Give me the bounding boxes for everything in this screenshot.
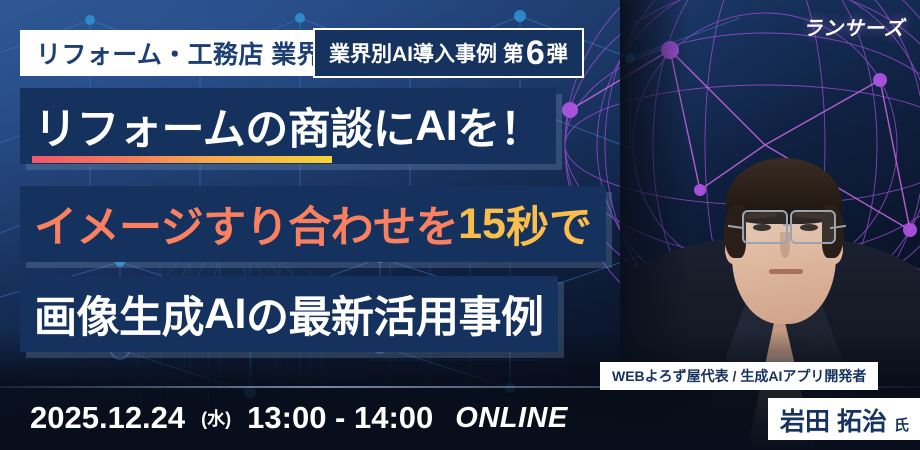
series-prefix-label: 業界別AI導入事例 第 — [329, 38, 524, 68]
industry-tag: リフォーム・工務店 業界 — [20, 30, 338, 76]
headline3-ai-label: AI — [204, 290, 246, 339]
headline-line-1: リフォームの商談に AI を！ — [20, 88, 556, 164]
speaker-name-tag: 岩田 拓治 氏 — [768, 398, 920, 440]
speaker-title: WEBよろず屋代表 / 生成AIアプリ開発者 — [600, 362, 878, 390]
event-time: 13:00 - 14:00 — [247, 400, 433, 436]
series-number-label: 6 — [526, 36, 545, 70]
webinar-banner: ランサーズ リフォーム・工務店 業界 業界別AI導入事例 第 6 弾 リフォーム… — [0, 0, 920, 450]
headline1-text-a: リフォームの商談に — [34, 95, 415, 157]
headline1-text-b: を！ — [457, 95, 542, 157]
event-date: 2025.12.24 — [30, 400, 185, 436]
headline2-unit: 秒で — [506, 193, 592, 255]
headline-line-2: イメージすり合わせを 15 秒で — [20, 186, 606, 262]
event-day-of-week: (水) — [201, 405, 231, 431]
headline1-ai-label: AI — [415, 102, 457, 151]
headline3-text-b: の最新活用事例 — [246, 283, 544, 345]
headline3-text-a: 画像生成 — [34, 283, 204, 345]
lancers-logo[interactable]: ランサーズ — [803, 12, 905, 41]
speaker-name: 岩田 拓治 — [780, 402, 887, 438]
event-datetime: 2025.12.24 (水) 13:00 - 14:00 ONLINE — [30, 398, 568, 438]
headline-line-3: 画像生成 AI の最新活用事例 — [20, 276, 558, 352]
event-format: ONLINE — [455, 402, 568, 435]
headline2-number: 15 — [458, 200, 506, 249]
headline1-underline-accent — [32, 156, 332, 163]
series-suffix-label: 弾 — [547, 38, 568, 68]
headline2-text: イメージすり合わせを — [34, 193, 458, 255]
series-badge: 業界別AI導入事例 第 6 弾 — [313, 28, 584, 78]
speaker-honorific: 氏 — [894, 414, 909, 435]
